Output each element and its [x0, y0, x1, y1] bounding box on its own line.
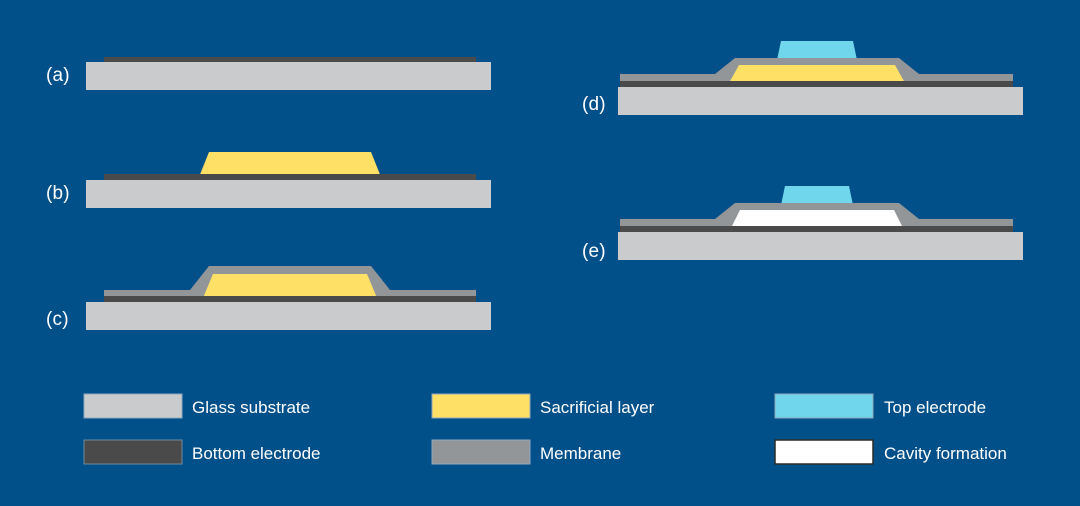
legend-item-top-electrode: Top electrode — [775, 394, 986, 418]
legend-swatch-cavity-formation — [775, 440, 873, 464]
panel-c: (c) — [46, 266, 491, 330]
panel-a: (a) — [46, 57, 491, 90]
legend-item-cavity-formation: Cavity formation — [775, 440, 1007, 464]
panel-b: (b) — [46, 152, 491, 208]
panel-d-label: (d) — [582, 94, 606, 115]
legend-swatch-bottom-electrode — [84, 440, 182, 464]
panel-e-glass-substrate — [618, 232, 1023, 260]
legend-item-glass-substrate: Glass substrate — [84, 394, 310, 418]
panel-e-cavity-formation — [731, 210, 903, 228]
legend-swatch-sacrificial-layer — [432, 394, 530, 418]
panel-c-label: (c) — [46, 309, 69, 330]
panel-a-glass-substrate — [86, 62, 491, 90]
panel-e-label: (e) — [582, 241, 606, 262]
legend-label-membrane: Membrane — [540, 444, 621, 463]
panel-e: (e) — [582, 186, 1023, 262]
legend-label-top-electrode: Top electrode — [884, 398, 986, 417]
legend-item-bottom-electrode: Bottom electrode — [84, 440, 321, 464]
panel-d: (d) — [582, 41, 1023, 115]
figure-canvas: (a) (b) (c) (d) (e) — [0, 0, 1080, 506]
panel-d-top-electrode — [777, 41, 857, 60]
legend-item-sacrificial-layer: Sacrificial layer — [432, 394, 655, 418]
panel-e-top-electrode — [781, 186, 853, 205]
legend-swatch-top-electrode — [775, 394, 873, 418]
panel-c-sacrificial-layer — [203, 274, 377, 298]
legend-label-glass-substrate: Glass substrate — [192, 398, 310, 417]
panel-d-glass-substrate — [618, 87, 1023, 115]
panel-d-sacrificial-layer — [729, 65, 905, 83]
panel-b-label: (b) — [46, 183, 70, 204]
legend-label-cavity-formation: Cavity formation — [884, 444, 1007, 463]
panel-c-glass-substrate — [86, 302, 491, 330]
panel-b-glass-substrate — [86, 180, 491, 208]
legend: Glass substrate Bottom electrode Sacrifi… — [84, 394, 1007, 464]
legend-swatch-membrane — [432, 440, 530, 464]
panel-a-label: (a) — [46, 65, 70, 86]
panel-b-sacrificial-layer — [199, 152, 381, 177]
process-flow-diagram: (a) (b) (c) (d) (e) — [0, 0, 1080, 506]
legend-label-bottom-electrode: Bottom electrode — [192, 444, 321, 463]
legend-item-membrane: Membrane — [432, 440, 621, 464]
legend-swatch-glass-substrate — [84, 394, 182, 418]
legend-label-sacrificial-layer: Sacrificial layer — [540, 398, 655, 417]
